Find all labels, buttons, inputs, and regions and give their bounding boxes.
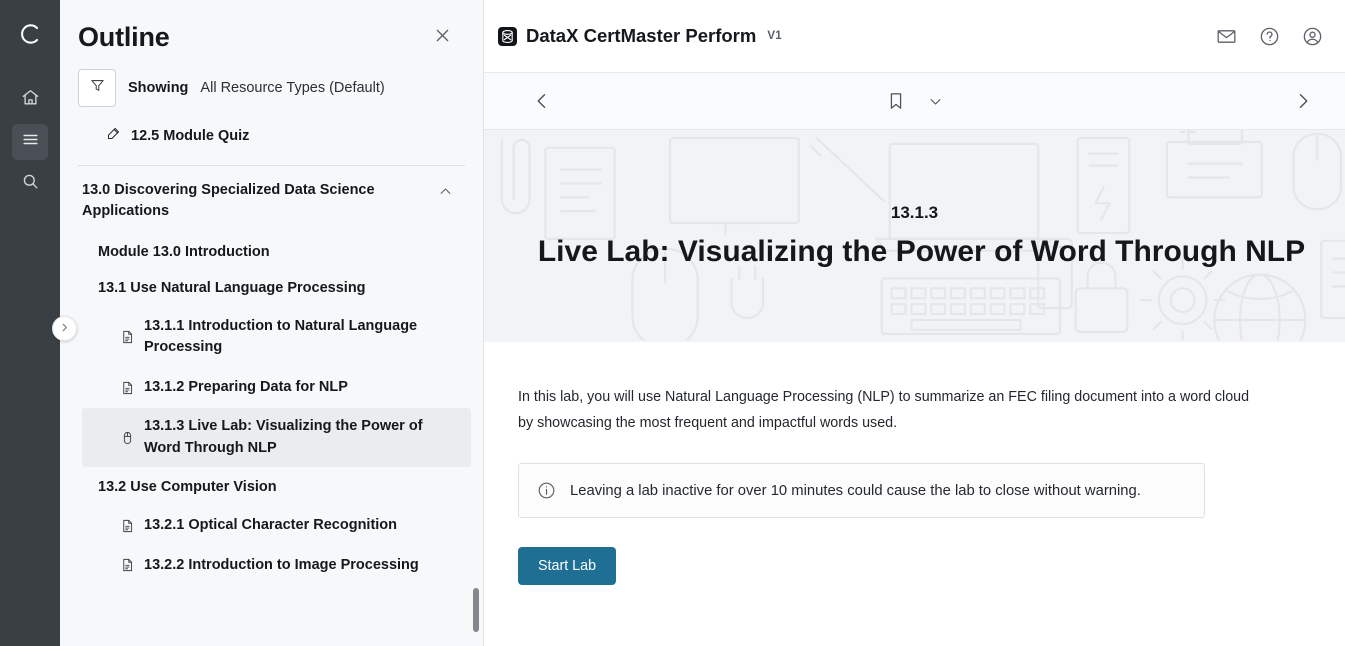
- close-outline-button[interactable]: [429, 25, 455, 51]
- document-icon: [120, 380, 135, 395]
- list-item-label: 13.1.3 Live Lab: Visualizing the Power o…: [144, 416, 461, 459]
- lesson-number: 13.1.3: [891, 203, 938, 223]
- brand-logo-icon: [498, 27, 517, 46]
- filter-label: Showing: [128, 80, 188, 96]
- info-circle-icon: [537, 481, 556, 500]
- list-item-label: Module 13.0 Introduction: [98, 244, 270, 260]
- chevron-down-icon[interactable]: [928, 94, 943, 109]
- page-title: Outline: [78, 22, 170, 53]
- lesson-body: In this lab, you will use Natural Langua…: [484, 342, 1345, 646]
- bookmark-controls: [886, 91, 943, 111]
- sidebar-item-home[interactable]: [12, 82, 48, 118]
- filter-button[interactable]: [78, 69, 116, 107]
- sidebar-item-13-1-2[interactable]: 13.1.2 Preparing Data for NLP: [82, 369, 471, 406]
- document-icon: [120, 330, 135, 345]
- sidebar-scrollbar-thumb[interactable]: [473, 588, 479, 632]
- list-item[interactable]: 12.5 Module Quiz: [60, 117, 483, 155]
- main-content: DataX CertMaster Perform V1: [484, 0, 1345, 646]
- outline-group-header[interactable]: 13.0 Discovering Specialized Data Scienc…: [60, 166, 483, 234]
- previous-page-button[interactable]: [532, 91, 552, 111]
- outline-panel: Outline Showing All Resource Types (Defa…: [60, 0, 484, 646]
- account-circle-icon[interactable]: [1302, 26, 1323, 47]
- home-icon: [21, 88, 40, 112]
- brand: DataX CertMaster Perform V1: [498, 25, 782, 47]
- sidebar-item-13-1-3[interactable]: 13.1.3 Live Lab: Visualizing the Power o…: [82, 408, 471, 467]
- app-header: DataX CertMaster Perform V1: [484, 0, 1345, 73]
- close-icon: [433, 26, 452, 50]
- search-icon: [21, 172, 40, 196]
- rail-item-list: [12, 82, 48, 202]
- bookmark-icon[interactable]: [886, 91, 906, 111]
- lab-mouse-icon: [120, 430, 135, 445]
- sidebar-item-13-2[interactable]: 13.2 Use Computer Vision: [60, 469, 483, 505]
- filter-icon: [89, 77, 106, 99]
- icon-rail: [0, 0, 60, 646]
- lesson-title: Live Lab: Visualizing the Power of Word …: [524, 235, 1305, 269]
- resource-filter-row: Showing All Resource Types (Default): [60, 63, 483, 107]
- lesson-banner: 13.1.3 Live Lab: Visualizing the Power o…: [484, 130, 1345, 342]
- list-item-label: 13.2.2 Introduction to Image Processing: [144, 555, 419, 576]
- app-logo-c-icon[interactable]: [10, 14, 50, 54]
- sidebar-item-search[interactable]: [12, 166, 48, 202]
- document-icon: [120, 558, 135, 573]
- outline-scroll-area: 12.5 Module Quiz 13.0 Discovering Specia…: [60, 107, 483, 646]
- info-callout-text: Leaving a lab inactive for over 10 minut…: [570, 483, 1141, 499]
- sidebar-item-outline[interactable]: [12, 124, 48, 160]
- next-page-button[interactable]: [1293, 91, 1313, 111]
- chevron-up-icon[interactable]: [438, 184, 453, 204]
- filter-value[interactable]: All Resource Types (Default): [200, 80, 384, 96]
- list-item-label: 13.2 Use Computer Vision: [98, 479, 277, 495]
- mail-icon[interactable]: [1216, 26, 1237, 47]
- sidebar-item-module-intro[interactable]: Module 13.0 Introduction: [60, 234, 483, 270]
- sidebar-item-13-2-1[interactable]: 13.2.1 Optical Character Recognition: [82, 507, 471, 544]
- sidebar-item-13-2-2[interactable]: 13.2.2 Introduction to Image Processing: [82, 547, 471, 584]
- quiz-pencil-icon: [106, 126, 121, 146]
- sidebar-item-13-1-1[interactable]: 13.1.1 Introduction to Natural Language …: [82, 308, 471, 367]
- lesson-navbar: [484, 73, 1345, 130]
- app-root: Outline Showing All Resource Types (Defa…: [0, 0, 1345, 646]
- header-actions: [1216, 26, 1323, 47]
- list-item-label: 12.5 Module Quiz: [131, 128, 249, 144]
- outline-menu-icon: [21, 130, 40, 154]
- list-item-label: 13.2.1 Optical Character Recognition: [144, 515, 397, 536]
- brand-name: DataX CertMaster Perform: [526, 25, 756, 47]
- start-lab-button[interactable]: Start Lab: [518, 547, 616, 585]
- sidebar-collapse-toggle[interactable]: [52, 316, 77, 341]
- list-item-label: 13.1 Use Natural Language Processing: [98, 280, 366, 296]
- help-circle-icon[interactable]: [1259, 26, 1280, 47]
- document-icon: [120, 519, 135, 534]
- app-version: V1: [767, 30, 782, 42]
- chevron-right-icon: [59, 320, 70, 338]
- info-callout: Leaving a lab inactive for over 10 minut…: [518, 463, 1205, 518]
- list-item-label: 13.1.1 Introduction to Natural Language …: [144, 316, 461, 359]
- outline-group-label: 13.0 Discovering Specialized Data Scienc…: [82, 180, 412, 222]
- sidebar-item-13-1[interactable]: 13.1 Use Natural Language Processing: [60, 270, 483, 306]
- list-item-label: 13.1.2 Preparing Data for NLP: [144, 377, 348, 398]
- outline-header: Outline: [60, 0, 483, 63]
- lesson-description: In this lab, you will use Natural Langua…: [518, 384, 1263, 436]
